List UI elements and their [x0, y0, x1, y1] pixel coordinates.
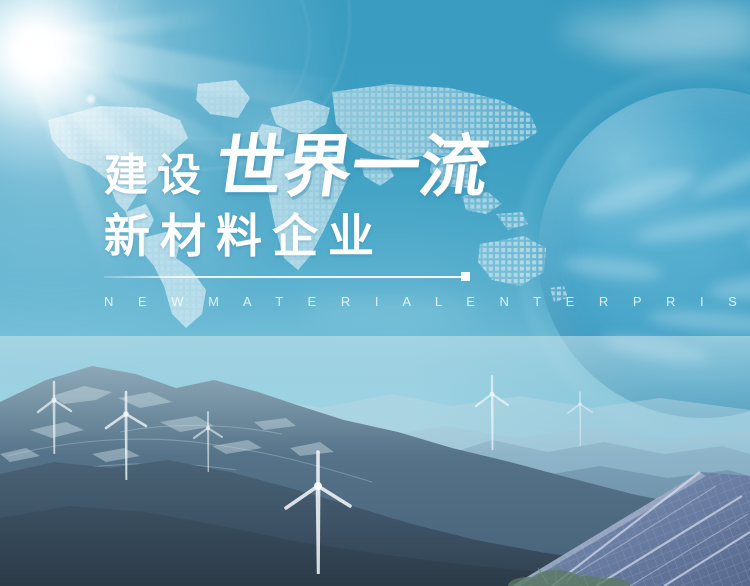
wind-turbine [560, 392, 600, 448]
divider-end-cap [461, 272, 470, 281]
wind-turbine [186, 414, 230, 474]
headline-line-1: 建设 世界一流 [104, 128, 664, 202]
wind-turbine [96, 396, 156, 482]
headline-emphasis: 世界一流 [211, 134, 493, 202]
headline-subtitle: N E W M A T E R I A L E N T E R P R I S … [104, 294, 664, 309]
hero-banner: 建设 世界一流 新材料企业 N E W M A T E R I A L E N … [0, 0, 750, 586]
wind-turbine [466, 378, 518, 452]
wind-turbine [272, 456, 362, 576]
headline-divider [104, 276, 468, 278]
headline-line-2: 新材料企业 [104, 212, 664, 260]
headline-prefix: 建设 [104, 154, 210, 202]
wind-turbine [26, 384, 82, 456]
headline-block: 建设 世界一流 新材料企业 N E W M A T E R I A L E N … [104, 128, 664, 309]
